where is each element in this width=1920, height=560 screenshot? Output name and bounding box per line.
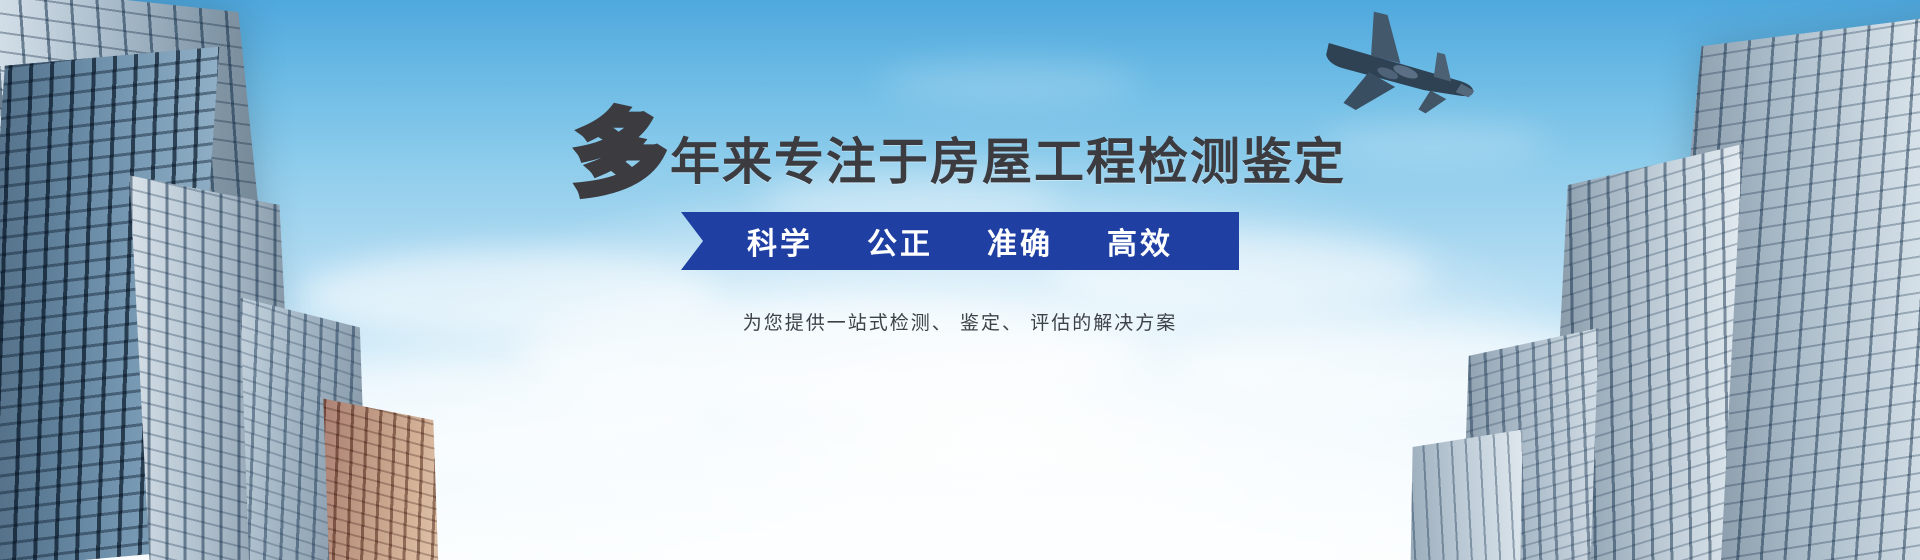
value-ribbon: 科学 公正 准确 高效 — [681, 212, 1239, 270]
headline-text: 年来专注于房屋工程检测鉴定 — [670, 137, 1346, 187]
ribbon-item-keyword: 公正 — [867, 219, 933, 263]
ribbon-item-keyword: 高效 — [1107, 219, 1173, 263]
ribbon-item-keyword: 科学 — [747, 219, 813, 263]
headline: 多 年来专注于房屋工程检测鉴定 — [0, 108, 1920, 187]
subtitle: 为您提供一站式检测、 鉴定、 评估的解决方案 — [0, 308, 1920, 335]
ribbon-item-keyword: 准确 — [987, 219, 1053, 263]
hero-banner: 多 年来专注于房屋工程检测鉴定 科学 公正 准确 高效 为您提供一站式检测、 鉴… — [0, 0, 1920, 560]
banner-content: 多 年来专注于房屋工程检测鉴定 科学 公正 准确 高效 为您提供一站式检测、 鉴… — [0, 0, 1920, 560]
headline-accent-char: 多 — [574, 116, 666, 195]
ribbon-wrapper: 科学 公正 准确 高效 — [0, 212, 1920, 270]
